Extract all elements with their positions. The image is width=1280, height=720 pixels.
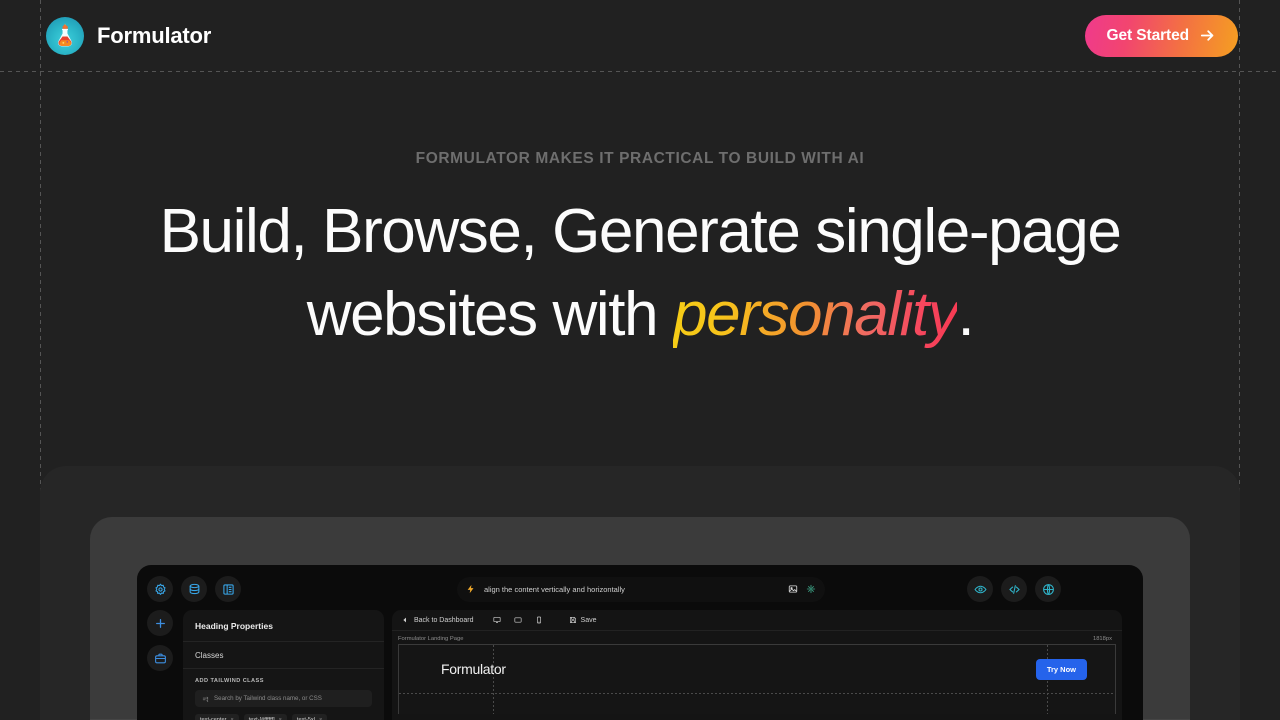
guide-line-top — [0, 71, 1280, 72]
device-toggle-group — [491, 614, 546, 627]
panel-body: ADD TAILWIND CLASS Search by Tailwind cl… — [183, 669, 384, 720]
preview-try-now-button[interactable]: Try Now — [1036, 659, 1087, 680]
get-started-button[interactable]: Get Started — [1085, 15, 1238, 57]
globe-publish-icon[interactable] — [1035, 576, 1061, 602]
code-brackets-icon[interactable] — [1001, 576, 1027, 602]
settings-gear-icon[interactable] — [147, 576, 173, 602]
tailwind-class-search-input[interactable]: Search by Tailwind class name, or CSS — [195, 690, 372, 707]
viewport-width-label: 1818px — [1093, 636, 1112, 642]
get-started-label: Get Started — [1107, 27, 1189, 45]
headline-accent-word: personality — [673, 280, 957, 349]
preview-heading[interactable]: Formulator — [441, 661, 506, 677]
class-search-icon — [202, 690, 209, 708]
lightning-bolt-icon — [466, 581, 476, 599]
preview-header-row: Formulator Try Now — [399, 645, 1115, 693]
layers-stack-icon[interactable] — [181, 576, 207, 602]
app-toolbar: align the content vertically and horizon… — [137, 574, 1143, 608]
headline-period: . — [957, 280, 973, 349]
sparkle-icon[interactable] — [806, 581, 816, 599]
headline-lead: Build, Browse, Generate single-page webs… — [160, 197, 1121, 349]
back-to-dashboard-button[interactable]: Back to Dashboard — [401, 611, 474, 629]
class-chip[interactable]: text-center × — [195, 714, 239, 720]
ai-prompt-bar[interactable]: align the content vertically and horizon… — [457, 577, 825, 602]
ai-prompt-input[interactable]: align the content vertically and horizon… — [484, 585, 780, 594]
panel-title: Heading Properties — [183, 610, 384, 642]
desktop-view-icon[interactable] — [491, 614, 504, 627]
class-chip-list: text-center × text-[#ffffff] × text-5xl … — [195, 714, 372, 720]
search-placeholder: Search by Tailwind class name, or CSS — [214, 695, 322, 702]
mobile-view-icon[interactable] — [533, 614, 546, 627]
top-navbar: Formulator Get Started — [0, 0, 1280, 71]
save-label: Save — [581, 617, 597, 624]
chevron-left-icon — [401, 611, 409, 629]
page-preview[interactable]: Formulator Try Now — [398, 644, 1116, 714]
preview-guide-bottom — [399, 693, 1115, 694]
arrow-right-icon — [1199, 27, 1216, 44]
editor-canvas: Back to Dashboard — [392, 610, 1122, 720]
add-plus-icon[interactable] — [147, 610, 173, 636]
save-button[interactable]: Save — [569, 611, 597, 629]
tablet-view-icon[interactable] — [512, 614, 525, 627]
hero-eyebrow: FORMULATOR MAKES IT PRACTICAL TO BUILD W… — [0, 150, 1280, 168]
brand-logo[interactable]: Formulator — [46, 17, 211, 55]
canvas-toolbar: Back to Dashboard — [392, 610, 1122, 631]
brand-name: Formulator — [97, 23, 211, 49]
image-icon[interactable] — [788, 581, 798, 599]
save-disk-icon — [569, 611, 577, 629]
app-screenshot: align the content vertically and horizon… — [137, 565, 1143, 720]
page-name-label: Formulator Landing Page — [398, 636, 463, 642]
flask-flame-icon — [46, 17, 84, 55]
canvas-meta: Formulator Landing Page 1818px — [392, 631, 1122, 644]
eye-preview-icon[interactable] — [967, 576, 993, 602]
briefcase-box-icon[interactable] — [147, 645, 173, 671]
back-to-dashboard-label: Back to Dashboard — [414, 617, 474, 624]
landing-page: Formulator Get Started FORMULATOR MAKES … — [0, 0, 1280, 720]
hero-headline: Build, Browse, Generate single-page webs… — [0, 190, 1280, 356]
panel-section-classes: Classes — [183, 642, 384, 669]
hero-section: FORMULATOR MAKES IT PRACTICAL TO BUILD W… — [0, 150, 1280, 356]
class-chip[interactable]: text-[#ffffff] × — [244, 714, 287, 720]
panel-list-icon[interactable] — [215, 576, 241, 602]
heading-properties-panel: Heading Properties Classes ADD TAILWIND … — [183, 610, 384, 720]
class-chip[interactable]: text-5xl × — [292, 714, 327, 720]
add-tailwind-class-label: ADD TAILWIND CLASS — [195, 678, 372, 684]
app-left-rail — [147, 610, 173, 680]
